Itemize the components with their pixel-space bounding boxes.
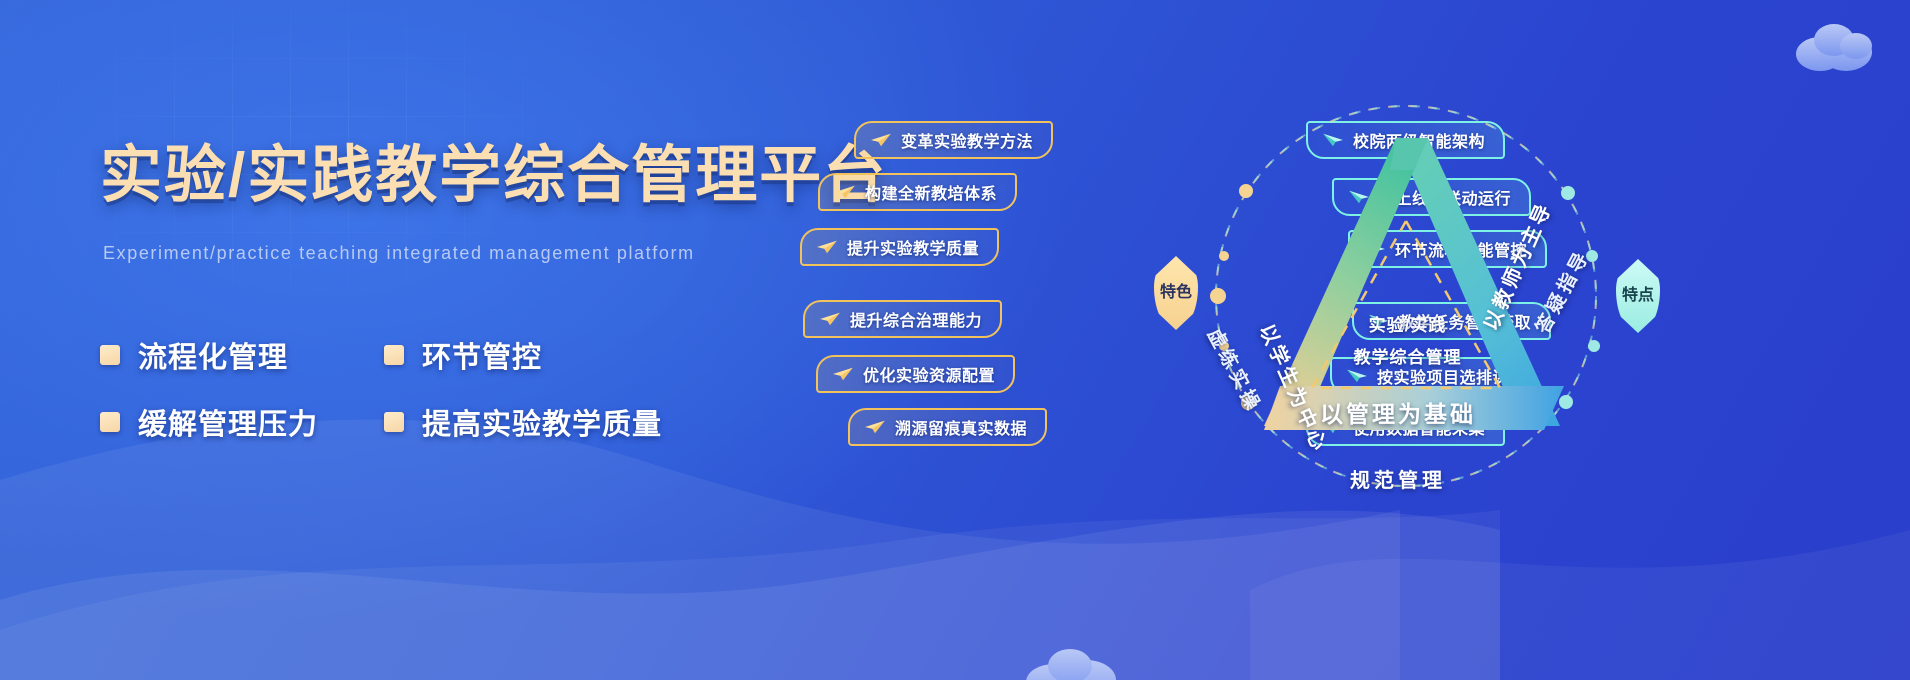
tag-left-4[interactable]: 提升综合治理能力 [803,300,1002,338]
paper-plane-icon [816,239,838,255]
page-subtitle: Experiment/practice teaching integrated … [103,243,695,264]
bullet-square-icon [100,345,120,365]
page-title: 实验/实践教学综合管理平台 [100,124,887,214]
list-item-label: 流程化管理 [138,334,288,376]
bullet-square-icon [384,345,404,365]
paper-plane-icon [870,132,892,148]
list-item-label: 缓解管理压力 [138,401,318,443]
bullet-square-icon [100,412,120,432]
cloud-icon-top-right [1790,18,1886,79]
bullet-square-icon [384,412,404,432]
status-badge-left-label: 特色 [1160,285,1192,302]
tag-left-6[interactable]: 溯源留痕真实数据 [848,408,1047,446]
tag-label: 提升综合治理能力 [850,307,982,331]
tag-left-1[interactable]: 变革实验教学方法 [854,121,1053,159]
tag-label: 变革实验教学方法 [901,128,1033,152]
list-item: 环节管控 [384,334,542,376]
tag-left-3[interactable]: 提升实验教学质量 [800,228,999,266]
paper-plane-icon [864,419,886,435]
list-item: 提高实验教学质量 [384,401,662,443]
cloud-icon-bottom [1020,640,1130,680]
tag-left-5[interactable]: 优化实验资源配置 [816,355,1015,393]
list-item: 流程化管理 [100,334,288,376]
tag-label: 优化实验资源配置 [863,362,995,386]
list-item-label: 环节管控 [422,334,542,376]
background-wave-lower [0,470,1500,680]
paper-plane-icon [832,366,854,382]
paper-plane-icon [834,184,856,200]
tag-label: 提升实验教学质量 [847,235,979,259]
tag-left-2[interactable]: 构建全新教培体系 [818,173,1017,211]
tag-label: 溯源留痕真实数据 [895,415,1027,439]
status-badge-right-label: 特点 [1622,288,1654,305]
diagram-graphics [1128,96,1688,496]
paper-plane-icon [819,311,841,327]
triangle-diagram: 特色 特点 以学生为中心 以教师为主导 以管理为基础 虚练实操 答疑指导 规范管… [1128,96,1688,496]
tag-label: 构建全新教培体系 [865,180,997,204]
list-item: 缓解管理压力 [100,401,318,443]
background-wave-right [1250,470,1910,680]
banner-stage: 实验/实践教学综合管理平台 Experiment/practice teachi… [0,0,1910,680]
list-item-label: 提高实验教学质量 [422,401,662,443]
